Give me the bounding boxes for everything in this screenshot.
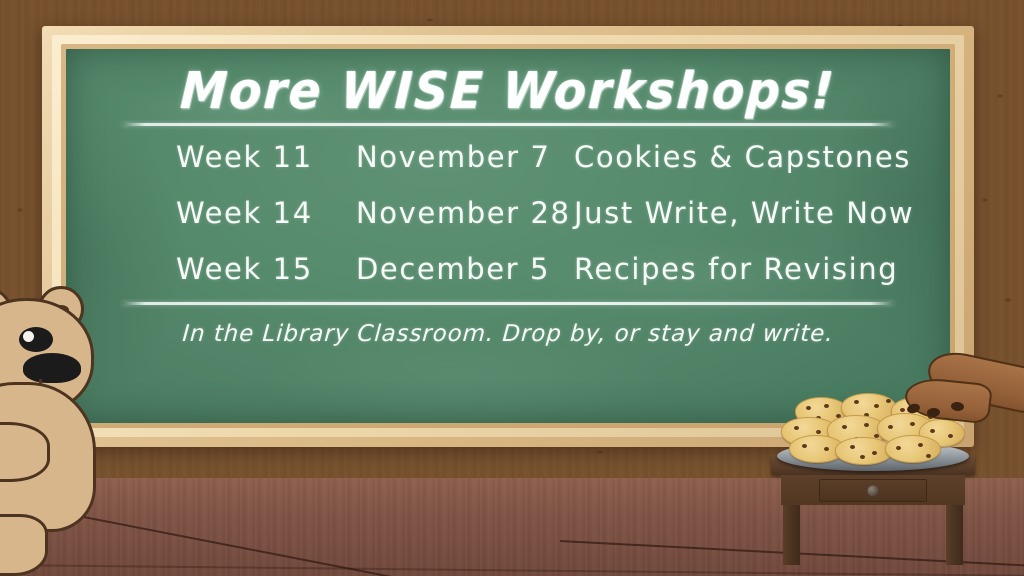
chalkboard-surface: More WISE Workshops! Week 11 November 7 …	[66, 49, 950, 423]
workshop-schedule-list: Week 11 November 7 Cookies & Capstones W…	[108, 140, 908, 286]
drawer-knob-icon	[868, 485, 879, 496]
schedule-row: Week 15 December 5 Recipes for Revising	[108, 252, 908, 286]
cookie	[885, 435, 941, 463]
chalkboard-frame-inner-bevel: More WISE Workshops! Week 11 November 7 …	[52, 35, 964, 437]
schedule-date: November 7	[356, 140, 574, 174]
bear-paw-reaching	[905, 352, 1024, 436]
schedule-date: November 28	[356, 196, 574, 230]
chalk-divider-top	[122, 123, 894, 126]
schedule-topic: Cookies & Capstones	[574, 140, 911, 174]
cartoon-bear	[0, 290, 122, 576]
bear-leg	[0, 514, 48, 576]
chalkboard-frame: More WISE Workshops! Week 11 November 7 …	[42, 26, 974, 447]
schedule-row: Week 14 November 28 Just Write, Write No…	[108, 196, 908, 230]
slide-canvas: More WISE Workshops! Week 11 November 7 …	[0, 0, 1024, 576]
location-note: In the Library Classroom. Drop by, or st…	[107, 321, 909, 347]
schedule-date: December 5	[356, 252, 574, 286]
chalkboard-content: More WISE Workshops! Week 11 November 7 …	[66, 49, 950, 423]
table-leg-right	[946, 505, 963, 565]
bear-eye-highlight	[23, 331, 34, 342]
wooden-side-table	[771, 455, 975, 565]
schedule-week: Week 11	[176, 140, 356, 174]
schedule-week: Week 15	[176, 252, 356, 286]
bear-eye-right	[19, 327, 53, 352]
schedule-row: Week 11 November 7 Cookies & Capstones	[108, 140, 908, 174]
table-drawer	[819, 479, 927, 502]
schedule-topic: Recipes for Revising	[574, 252, 908, 286]
page-title: More WISE Workshops!	[107, 65, 910, 118]
table-leg-left	[783, 505, 800, 565]
bear-hand	[903, 376, 993, 425]
chalk-divider-bottom	[122, 302, 894, 305]
schedule-week: Week 14	[176, 196, 356, 230]
schedule-topic: Just Write, Write Now	[574, 196, 914, 230]
chalkboard-frame-lip: More WISE Workshops! Week 11 November 7 …	[61, 44, 955, 428]
